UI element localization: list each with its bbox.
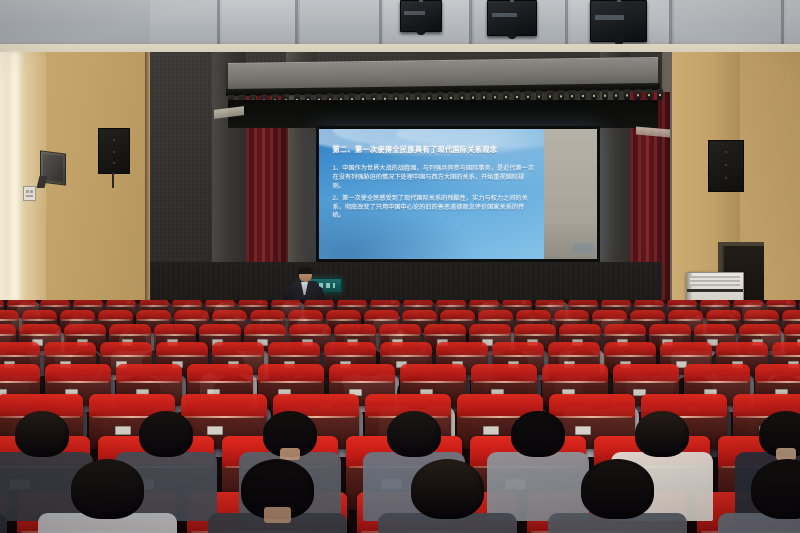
audience-member-neck <box>776 448 795 460</box>
presentation-slide: 第二、第一次使得全民族具有了现代国际关系观念 1、中国作为世界大战的战胜国，与列… <box>319 129 544 259</box>
curtain-hook <box>624 89 630 100</box>
audience-seating <box>0 300 800 533</box>
audience-member-head <box>15 411 68 457</box>
acoustic-panel-right <box>708 140 744 192</box>
stage-upper-void <box>228 100 658 128</box>
audience-member-head <box>511 411 564 457</box>
slide-title: 第二、第一次使得全民族具有了现代国际关系观念 <box>333 145 536 154</box>
ceiling-projector <box>590 0 647 42</box>
ceiling-projector <box>400 0 442 32</box>
audience-member-head <box>635 411 688 457</box>
screen-surface: 第二、第一次使得全民族具有了现代国际关系观念 1、中国作为世界大战的战胜国，与列… <box>319 129 597 259</box>
presenter-hair <box>298 267 313 274</box>
slide-bullet-2: 2、第一次使全民感受到了现代国际关系的残酷性，实力与权力之间的关系，彻底改变了只… <box>333 195 536 221</box>
audience-member-head <box>139 411 192 457</box>
left-wall-light-strip <box>8 52 22 342</box>
curtain-hook <box>613 90 619 101</box>
auditorium-photo: 第二、第一次使得全民族具有了现代国际关系观念 1、中国作为世界大战的战胜国，与列… <box>0 0 800 533</box>
audience-member-head <box>411 459 485 519</box>
slide-body: 1、中国作为世界大战的战胜国，与列强共同参与国际事务，是近代第一次在没有列强胁迫… <box>333 165 536 224</box>
audience-member-head <box>71 459 145 519</box>
wall-control-panel[interactable] <box>23 186 36 201</box>
acoustic-panel-left-stem <box>112 172 114 188</box>
curtain-hook <box>635 89 641 100</box>
audience-member-torso <box>487 452 588 521</box>
audience-member-head <box>581 459 655 519</box>
curtain-hook <box>657 89 663 100</box>
curtain-hook <box>646 89 652 100</box>
audience-member-head <box>387 411 440 457</box>
audience-member-neck <box>264 507 290 522</box>
screen-unlit-margin <box>544 129 597 259</box>
slide-bullet-1: 1、中国作为世界大战的战胜国，与列强共同参与国际事务，是近代第一次在没有列强胁迫… <box>333 165 536 191</box>
projection-screen: 第二、第一次使得全民族具有了现代国际关系观念 1、中国作为世界大战的战胜国，与列… <box>316 126 600 262</box>
audience-member-neck <box>280 448 299 460</box>
ceiling-projector <box>487 0 537 36</box>
acoustic-panel-left <box>98 128 130 174</box>
